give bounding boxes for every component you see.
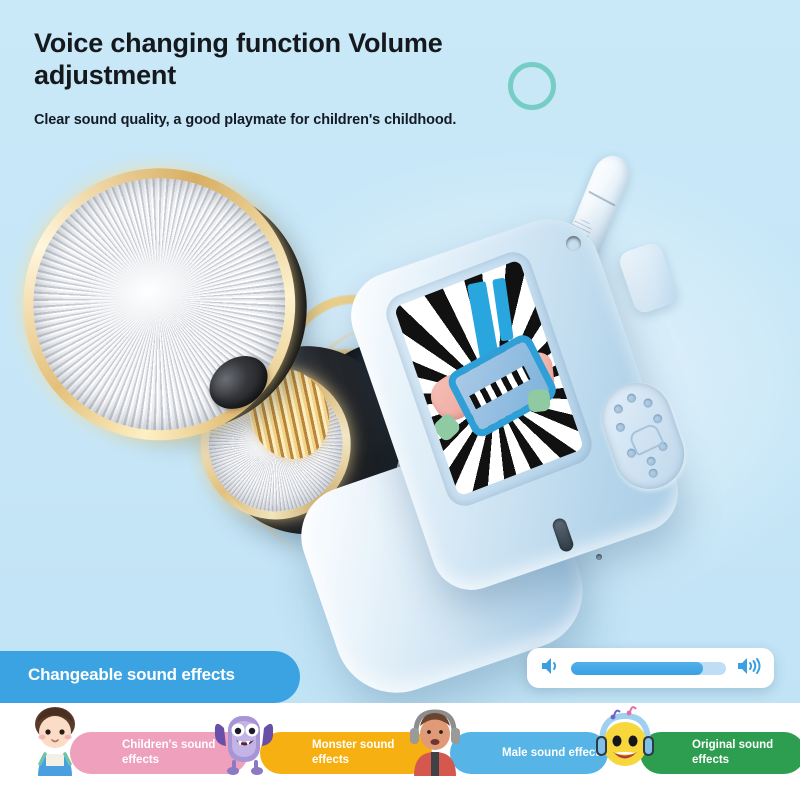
sound-effects-banner: Changeable sound effects bbox=[0, 651, 300, 703]
man-headphones-avatar bbox=[402, 704, 468, 776]
sound-effect-label: Original sound effects bbox=[692, 738, 800, 768]
speaker-low-icon bbox=[539, 656, 561, 681]
smiley-headphones-avatar bbox=[592, 704, 658, 776]
sound-effect-label: Male sound effects bbox=[502, 746, 606, 761]
page-subtitle: Clear sound quality, a good playmate for… bbox=[34, 112, 554, 128]
volume-slider-fill bbox=[571, 662, 703, 675]
speaker-high-icon bbox=[736, 655, 762, 682]
volume-slider-track[interactable] bbox=[571, 662, 726, 675]
sound-effects-banner-label: Changeable sound effects bbox=[28, 665, 235, 685]
purple-monster-avatar bbox=[212, 704, 278, 776]
product-feature-banner: Voice changing function Volume adjustmen… bbox=[0, 0, 800, 800]
volume-control[interactable] bbox=[527, 648, 774, 688]
device-top-cap bbox=[617, 241, 679, 316]
antenna-band bbox=[588, 191, 615, 207]
sound-effect-pill[interactable]: Original sound effects bbox=[640, 732, 800, 774]
sound-effect-pill[interactable]: Male sound effects bbox=[450, 732, 608, 774]
screen-sleeve-right bbox=[528, 389, 551, 413]
screw-hole bbox=[566, 236, 581, 251]
header: Voice changing function Volume adjustmen… bbox=[34, 28, 554, 128]
speaker-cone bbox=[7, 152, 312, 457]
page-title: Voice changing function Volume adjustmen… bbox=[34, 28, 554, 91]
reset-pinhole bbox=[596, 554, 602, 560]
child-boy-avatar bbox=[22, 704, 88, 776]
walkie-talkie-device bbox=[338, 150, 768, 710]
decorative-ring-icon bbox=[508, 62, 556, 110]
